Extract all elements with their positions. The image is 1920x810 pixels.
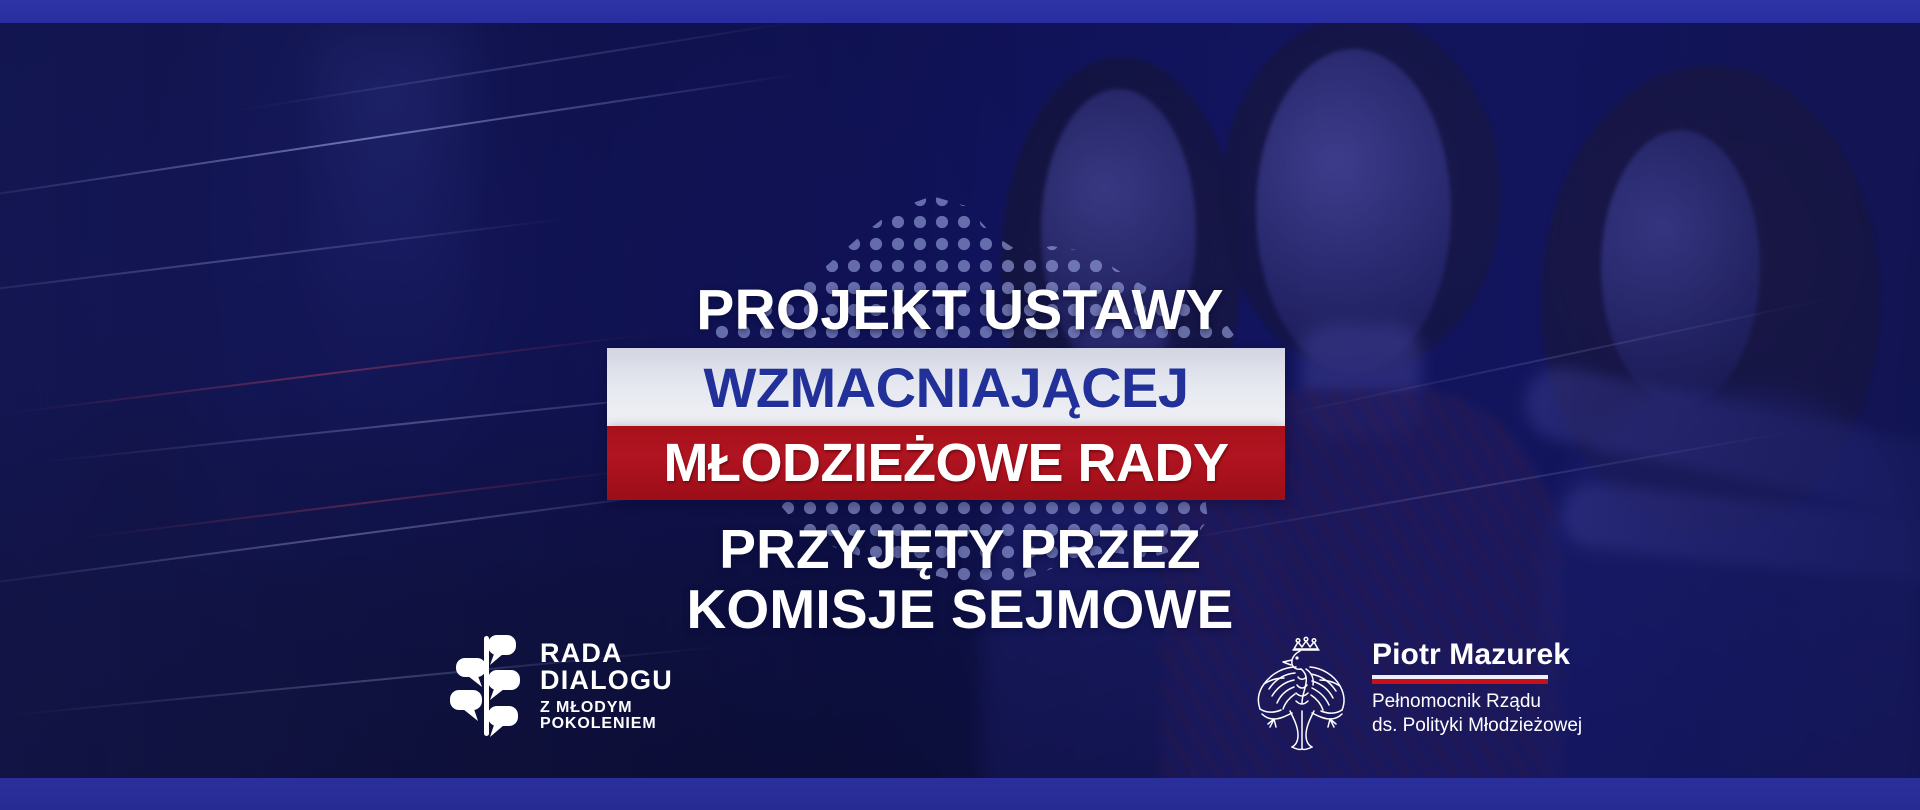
plenipotentiary-subtitle-1: Pełnomocnik Rządu (1372, 690, 1582, 714)
bottom-accent-band (0, 778, 1920, 810)
plenipotentiary-name: Piotr Mazurek (1372, 639, 1582, 671)
top-accent-band (0, 0, 1920, 23)
plenipotentiary-subtitle-2: ds. Polityki Młodzieżowej (1372, 714, 1582, 738)
banner-graphic: PROJEKT USTAWY WZMACNIAJĄCEJ MŁODZIEŻOWE… (0, 0, 1920, 810)
rada-logo-line-3: Z MŁODYM (540, 700, 673, 716)
polish-flag-bar (1372, 675, 1548, 684)
rada-logo-line-4: POKOLENIEM (540, 716, 673, 732)
government-wordmark: Piotr Mazurek Pełnomocnik Rządu ds. Poli… (1372, 633, 1582, 738)
poland-dot-map-icon (648, 148, 1308, 618)
rada-dialogu-wordmark: RADA DIALOGU Z MŁODYM POKOLENIEM (540, 640, 673, 733)
polish-eagle-icon (1250, 633, 1354, 751)
government-plenipotentiary-logo: Piotr Mazurek Pełnomocnik Rządu ds. Poli… (1250, 633, 1582, 751)
rada-dialogu-logo: RADA DIALOGU Z MŁODYM POKOLENIEM (448, 632, 673, 740)
rada-logo-line-2: DIALOGU (540, 667, 673, 695)
rada-logo-line-1: RADA (540, 640, 673, 668)
speech-bubble-plant-icon (448, 632, 526, 740)
